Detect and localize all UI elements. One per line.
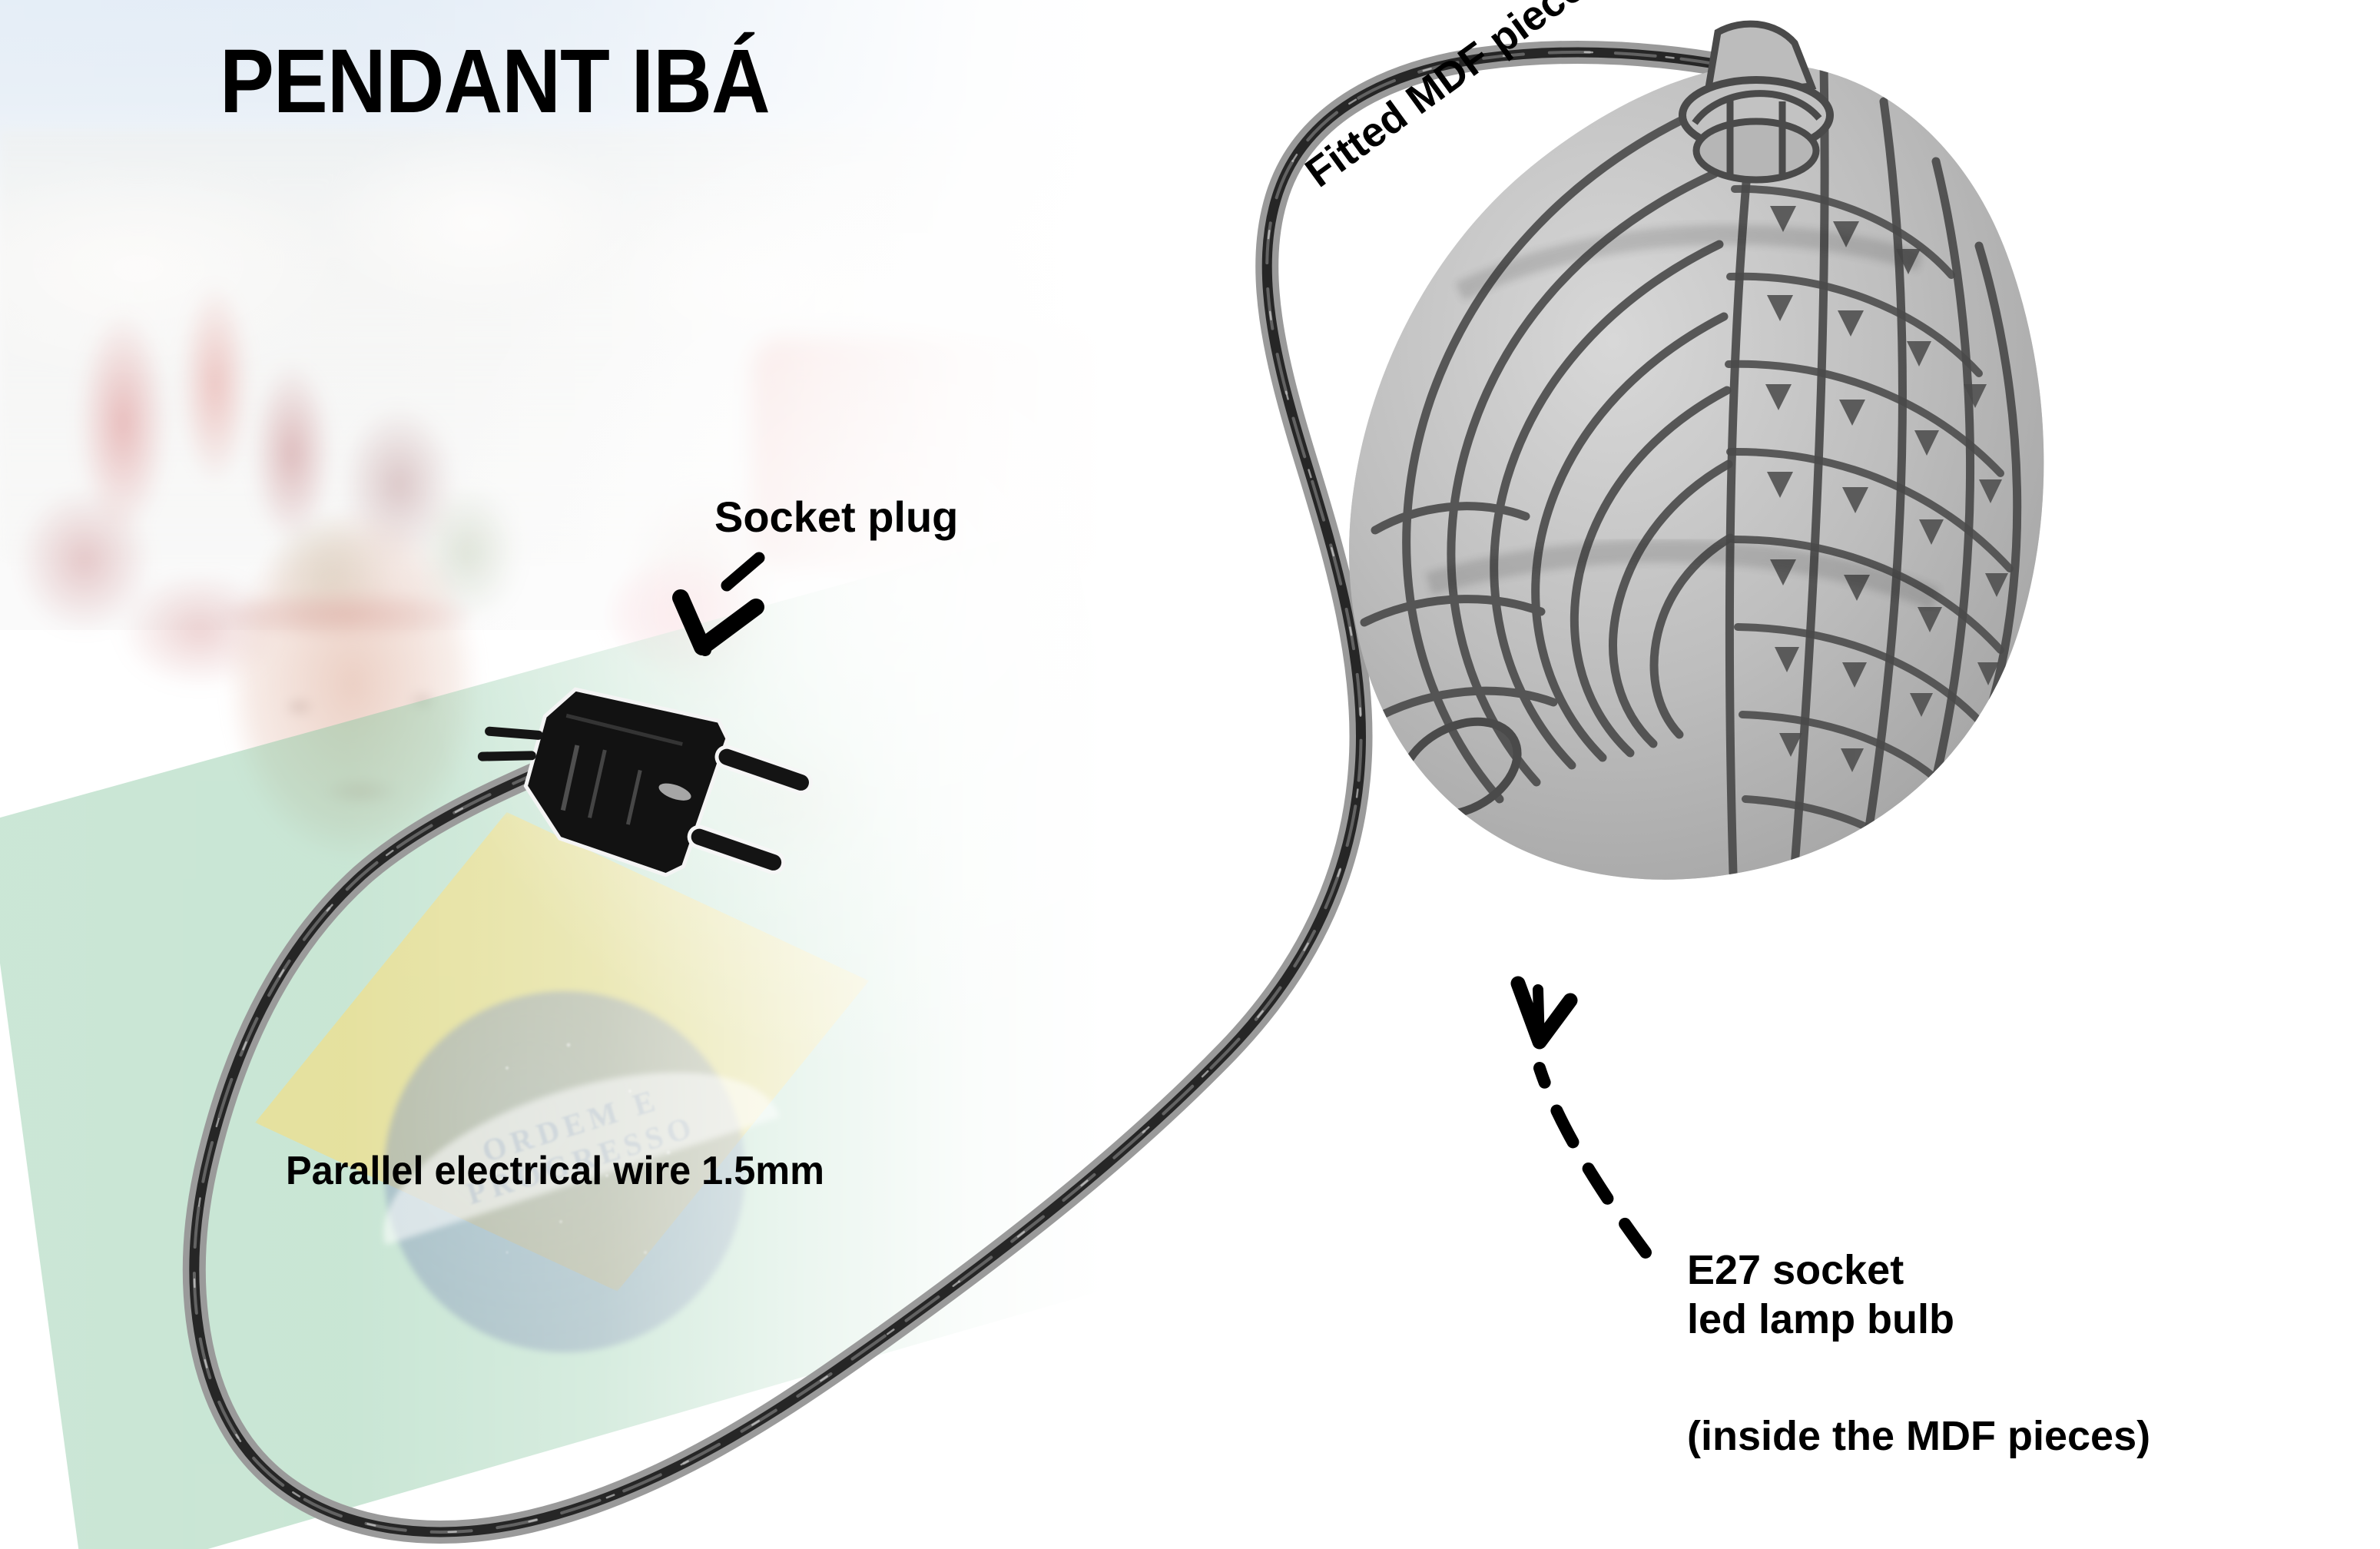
label-parallel-wire: Parallel electrical wire 1.5mm — [286, 1148, 824, 1194]
label-socket-plug: Socket plug — [714, 492, 958, 542]
label-e27-line1: E27 socket — [1687, 1246, 1954, 1295]
socket-plug-arrow-icon — [681, 558, 759, 650]
label-e27-line2: led lamp bulb — [1687, 1295, 1954, 1345]
page-title: PENDANT IBÁ — [220, 29, 770, 134]
poster-canvas: ORDEM E PROGRESSO — [0, 0, 2380, 1549]
label-e27-socket: E27 socket led lamp bulb — [1687, 1246, 1954, 1344]
e27-socket-arrow-icon — [1518, 983, 1646, 1252]
label-inside-note: (inside the MDF pieces) — [1687, 1412, 2150, 1460]
product-artwork — [0, 0, 2380, 1549]
lamp-top-socket-housing — [1682, 24, 1830, 180]
pendant-lamp-shade — [1349, 24, 2044, 880]
